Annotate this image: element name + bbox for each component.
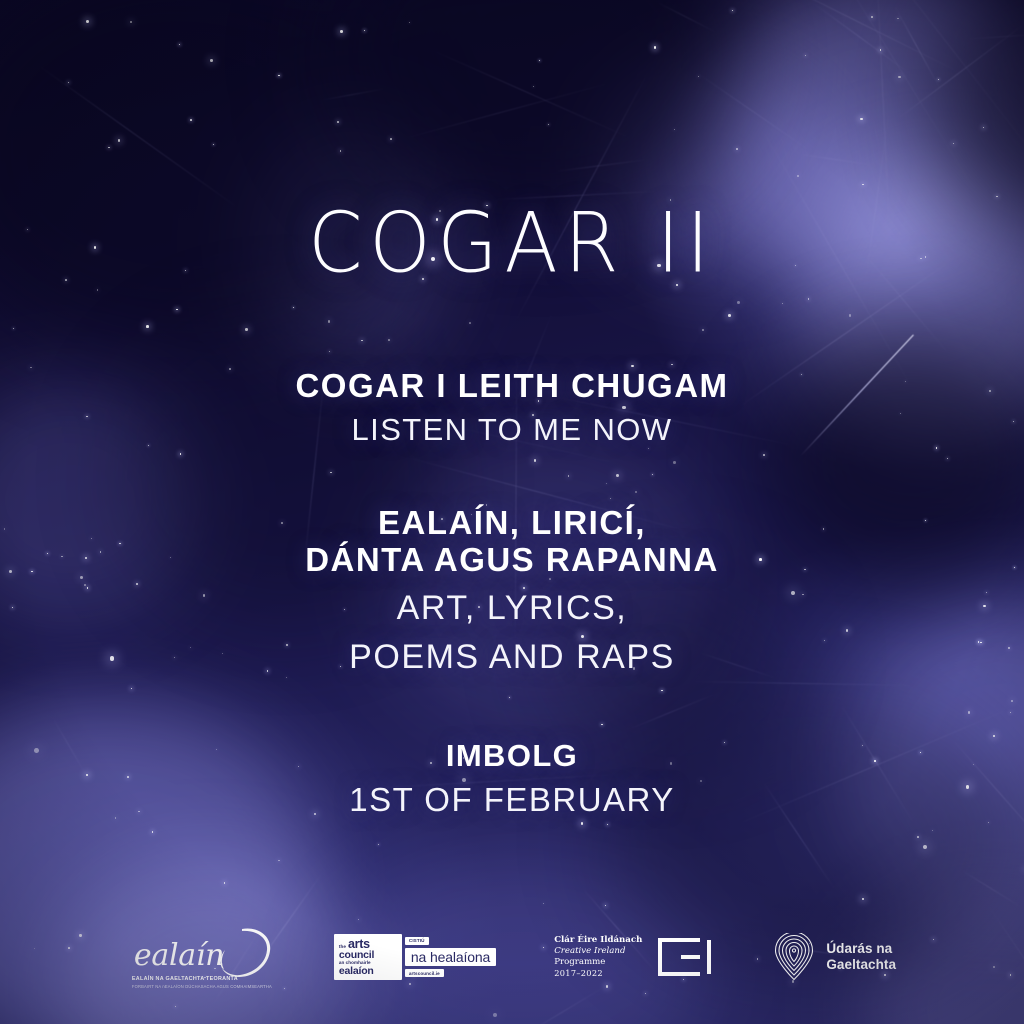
- tagline-block: COGAR I LEITH CHUGAM LISTEN TO ME NOW: [295, 367, 728, 448]
- date-english: 1ST OF FEBRUARY: [349, 781, 674, 819]
- logo-ealain-caption-2: FORBAIRT NA nEALAÍON DÚCHASACHA AGUS COM…: [132, 984, 272, 989]
- logo-arts-council: the arts council an chomhairle ealaíon C…: [334, 934, 496, 980]
- poster-content: COGAR II COGAR I LEITH CHUGAM LISTEN TO …: [0, 0, 1024, 1024]
- logo-creative-ireland: Clár Éire Ildánach Creative Ireland Prog…: [554, 935, 715, 979]
- creative-ireland-line-3: Programme: [554, 957, 642, 968]
- creative-ireland-line-1: Clár Éire Ildánach: [554, 935, 642, 946]
- date-block: IMBOLG 1ST OF FEBRUARY: [349, 738, 674, 820]
- tagline-irish: COGAR I LEITH CHUGAM: [295, 367, 728, 405]
- logo-ealain: ealaín EALAÍN NA GAELTACHTA TEORANTA FOR…: [128, 926, 276, 988]
- udaras-line-2: Gaeltachta: [826, 957, 896, 973]
- date-irish: IMBOLG: [446, 738, 578, 773]
- page-title: COGAR II: [308, 203, 716, 286]
- poster-canvas: COGAR II COGAR I LEITH CHUGAM LISTEN TO …: [0, 0, 1024, 1024]
- categories-english-line-1: ART, LYRICS,: [397, 589, 628, 628]
- logo-ealain-caption-1: EALAÍN NA GAELTACHTA TEORANTA: [132, 976, 238, 982]
- creative-ireland-monogram-icon: [655, 938, 715, 976]
- arts-council-url: artscouncil.ie: [405, 969, 444, 977]
- arts-council-chip: CISTIÚ: [405, 937, 429, 945]
- arts-council-ealaion: ealaíon: [339, 966, 397, 977]
- logo-udaras-na-gaeltachta: Údarás na Gaeltachta: [773, 933, 896, 981]
- concentric-pin-icon: [773, 933, 815, 981]
- logo-ealain-wordmark: ealaín: [134, 938, 224, 973]
- udaras-line-1: Údarás na: [826, 941, 896, 957]
- arts-council-name: na healaíona: [405, 948, 496, 967]
- categories-irish-line-2: DÁNTA AGUS RAPANNA: [305, 541, 719, 579]
- categories-english-line-2: POEMS AND RAPS: [349, 638, 675, 677]
- categories-irish-line-1: EALAÍN, LIRICÍ,: [378, 504, 646, 542]
- sponsor-logo-strip: ealaín EALAÍN NA GAELTACHTA TEORANTA FOR…: [0, 926, 1024, 988]
- creative-ireland-line-2: Creative Ireland: [554, 946, 642, 957]
- tagline-english: LISTEN TO ME NOW: [352, 412, 673, 448]
- creative-ireland-line-4: 2017–2022: [554, 968, 642, 979]
- categories-block: EALAÍN, LIRICÍ, DÁNTA AGUS RAPANNA ART, …: [305, 504, 719, 678]
